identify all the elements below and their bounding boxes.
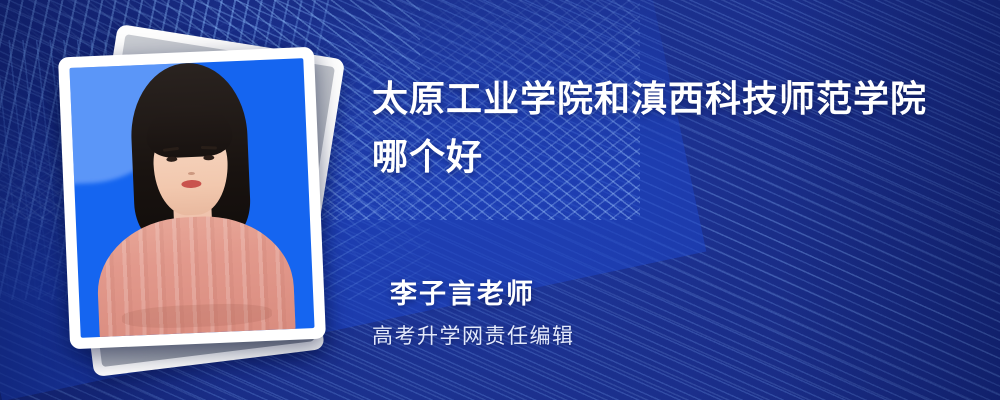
author-photo-card (58, 47, 326, 349)
author-role: 高考升学网责任编辑 (372, 320, 575, 350)
author-portrait-photo (69, 58, 314, 338)
author-name: 李子言老师 (390, 272, 535, 311)
banner-headline: 太原工业学院和滇西科技师范学院哪个好 (372, 70, 948, 186)
article-cover-banner: 太原工业学院和滇西科技师范学院哪个好 李子言老师 高考升学网责任编辑 (0, 0, 1000, 400)
photo-card-stack (58, 42, 338, 352)
portrait-illustration (69, 58, 314, 338)
banner-text-block: 太原工业学院和滇西科技师范学院哪个好 李子言老师 高考升学网责任编辑 (372, 0, 972, 400)
